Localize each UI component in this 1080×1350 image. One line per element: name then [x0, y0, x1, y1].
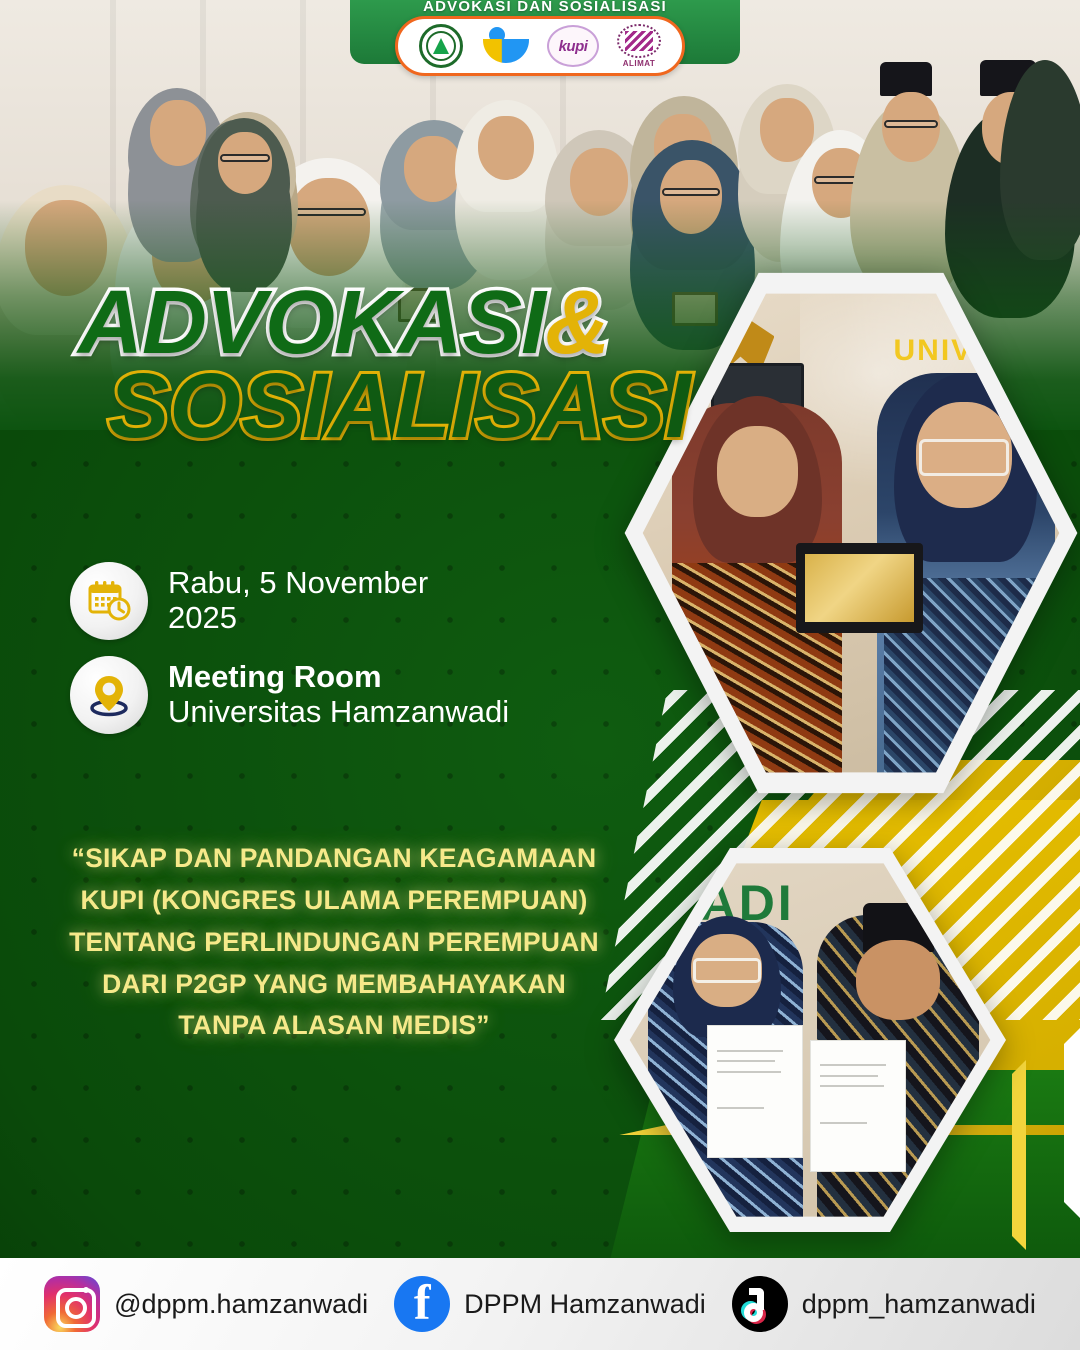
event-info-block: Rabu, 5 November 2025 Meeting Room Unive…: [70, 562, 509, 750]
info-text-location: Meeting Room Universitas Hamzanwadi: [168, 660, 509, 729]
kupi-logo: kupi: [547, 23, 599, 69]
headline-block: ADVOKASI& SOSIALISASI: [0, 280, 690, 452]
instagram-icon[interactable]: [44, 1276, 100, 1332]
headline-line-1: ADVOKASI&: [0, 280, 690, 366]
social-footer: @dppm.hamzanwadi DPPM Hamzanwadi dppm_ha…: [0, 1258, 1080, 1350]
tiktok-handle[interactable]: dppm_hamzanwadi: [802, 1289, 1036, 1320]
quote-line: “SIKAP DAN PANDANGAN KEAGAMAAN: [24, 838, 644, 880]
partner-logo-bar: kupi ALIMAT: [395, 16, 685, 76]
info-row-location: Meeting Room Universitas Hamzanwadi: [70, 656, 509, 734]
social-item-instagram[interactable]: @dppm.hamzanwadi: [44, 1276, 368, 1332]
location-line-1: Meeting Room: [168, 660, 509, 695]
alimat-logo-text: ALIMAT: [623, 59, 656, 68]
location-line-2: Universitas Hamzanwadi: [168, 695, 509, 730]
info-row-date: Rabu, 5 November 2025: [70, 562, 509, 640]
date-line-1: Rabu, 5 November: [168, 566, 428, 601]
photo1-wall-text: UNIVERSITAS HAMZANWADI: [894, 334, 1056, 368]
info-text-date: Rabu, 5 November 2025: [168, 566, 428, 635]
hex-photo-mou-signing: ADI: [610, 840, 1010, 1240]
theme-quote: “SIKAP DAN PANDANGAN KEAGAMAAN KUPI (KON…: [24, 838, 644, 1047]
partner-figure-logo: [481, 23, 533, 69]
instagram-handle[interactable]: @dppm.hamzanwadi: [114, 1289, 368, 1320]
poster-root: ADVOKASI DAN SOSIALISASI SIKAP DAN PANDA…: [0, 0, 1080, 1350]
tiktok-icon[interactable]: [732, 1276, 788, 1332]
quote-line: DARI P2GP YANG MEMBAHAYAKAN: [24, 964, 644, 1006]
date-line-2: 2025: [168, 601, 428, 636]
stage-banner-title: ADVOKASI DAN SOSIALISASI: [350, 0, 740, 15]
quote-line: KUPI (KONGRES ULAMA PEREMPUAN): [24, 880, 644, 922]
facebook-icon[interactable]: [394, 1276, 450, 1332]
quote-line: TENTANG PERLINDUNGAN PEREMPUAN: [24, 922, 644, 964]
quote-line: TANPA ALASAN MEDIS”: [24, 1005, 644, 1047]
alimat-logo: ALIMAT: [613, 23, 665, 69]
location-pin-icon: [70, 656, 148, 734]
social-item-facebook[interactable]: DPPM Hamzanwadi: [394, 1276, 706, 1332]
calendar-clock-icon: [70, 562, 148, 640]
headline-line-2: SOSIALISASI: [0, 360, 690, 452]
facebook-handle[interactable]: DPPM Hamzanwadi: [464, 1289, 706, 1320]
social-item-tiktok[interactable]: dppm_hamzanwadi: [732, 1276, 1036, 1332]
universitas-hamzanwadi-logo: [415, 23, 467, 69]
